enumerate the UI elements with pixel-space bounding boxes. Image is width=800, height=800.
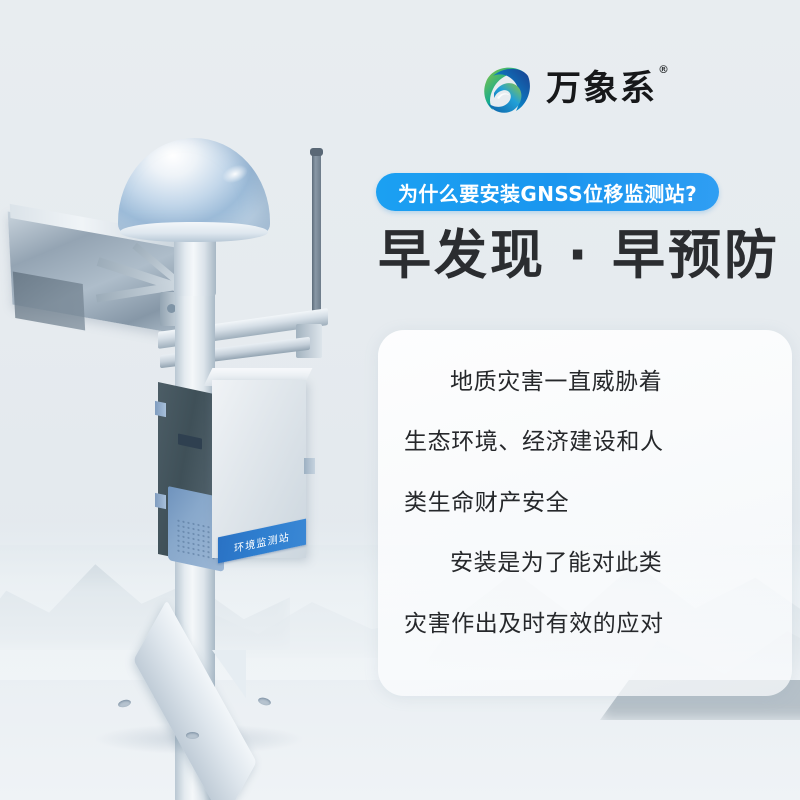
gnss-monitoring-station-illustration: 环境监测站 — [0, 110, 370, 750]
trademark-symbol: ® — [658, 63, 671, 76]
cabinet-hinge — [155, 493, 166, 509]
base-bolt-hole — [257, 696, 271, 706]
question-banner: 为什么要安装GNSS位移监测站? — [376, 173, 719, 211]
brand-name: 万象系® — [546, 72, 670, 107]
gnss-dome-rim — [120, 222, 268, 242]
body-line: 类生命财产安全 — [404, 489, 766, 518]
body-line: 安装是为了能对此类 — [404, 549, 766, 578]
poster-canvas: 环境监测站 — [0, 0, 800, 800]
cabinet-hinge — [155, 401, 166, 417]
body-line: 生态环境、经济建设和人 — [404, 428, 766, 457]
content-column: 万象系® 为什么要安装GNSS位移监测站? 早发现 · 早预防 地质灾害一直威胁… — [360, 0, 800, 800]
brand-lockup: 万象系® — [480, 62, 670, 116]
body-text-card: 地质灾害一直威胁着 生态环境、经济建设和人 类生命财产安全 安装是为了能对此类 … — [378, 330, 792, 696]
base-bolt-hole — [117, 699, 131, 709]
page-title: 早发现 · 早预防 — [378, 226, 780, 285]
whip-antenna-cap — [310, 148, 323, 156]
question-banner-text: 为什么要安装GNSS位移监测站? — [398, 178, 697, 207]
cabinet-latch — [304, 458, 315, 474]
brand-name-text: 万象系 — [546, 69, 657, 109]
globe-swirl-logo-icon — [480, 62, 534, 116]
base-bolt-hole — [186, 732, 199, 739]
body-line: 灾害作出及时有效的应对 — [404, 610, 766, 639]
body-line: 地质灾害一直威胁着 — [404, 368, 766, 397]
